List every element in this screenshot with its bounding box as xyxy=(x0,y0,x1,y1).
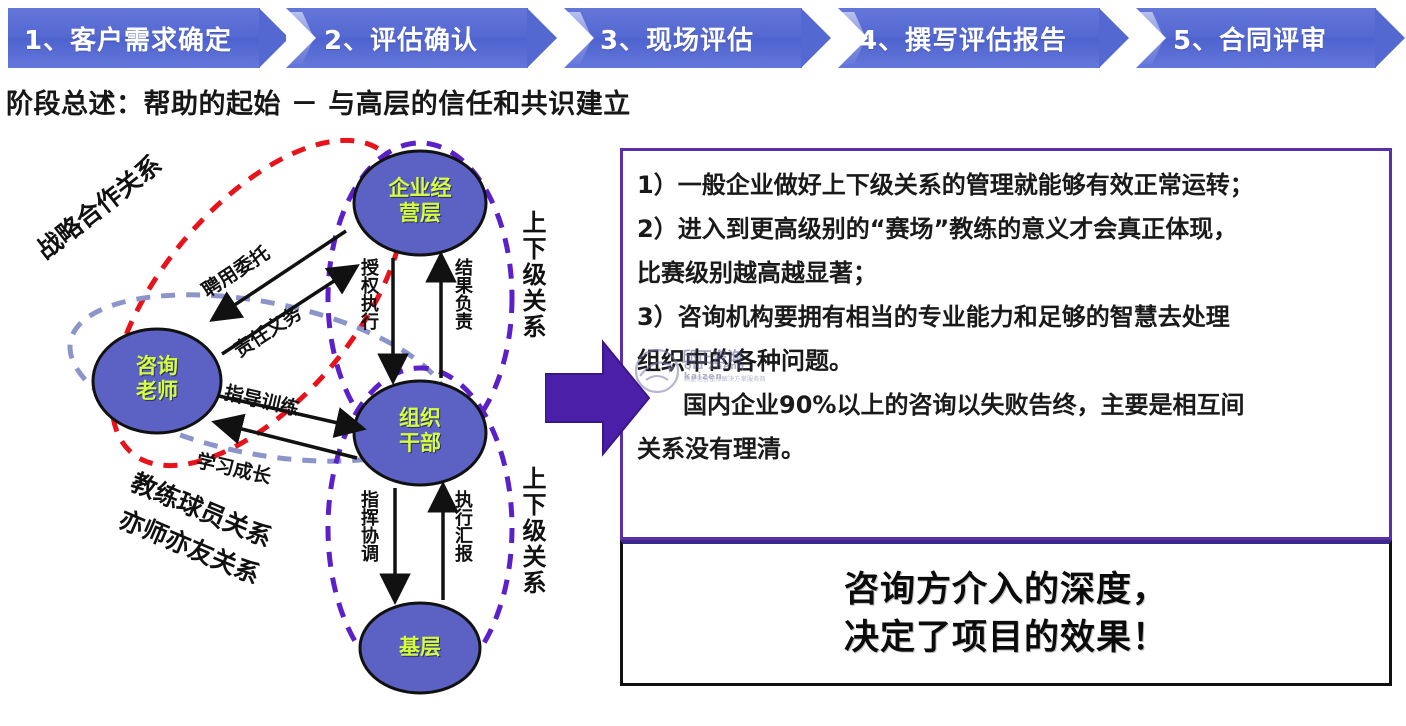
node-frontline xyxy=(360,603,480,693)
label-command-coordinate: 指挥协调 xyxy=(358,490,378,562)
process-step-5[interactable]: 5、合同评审 xyxy=(1136,8,1376,68)
chevron-sheen xyxy=(288,12,314,64)
label-hierarchy-lower: 上下级关系 xyxy=(518,466,545,596)
process-step-2-label: 2、评估确认 xyxy=(324,20,490,57)
insight-line-3: 比赛级别越高越显著； xyxy=(637,251,1377,295)
conclusion-panel: 咨询方介入的深度， 决定了项目的效果！ xyxy=(620,540,1392,686)
label-hierarchy-upper: 上下级关系 xyxy=(518,210,545,340)
flow-arrow-icon xyxy=(545,338,650,458)
process-step-1[interactable]: 1、客户需求确定 xyxy=(8,8,260,68)
node-consultant xyxy=(93,329,221,433)
process-step-3-label: 3、现场评估 xyxy=(600,20,766,57)
process-step-4[interactable]: 4、撰写评估报告 xyxy=(838,8,1100,68)
process-step-1-label: 1、客户需求确定 xyxy=(24,20,244,57)
process-step-3[interactable]: 3、现场评估 xyxy=(564,8,802,68)
chevron-sheen xyxy=(566,12,592,64)
insight-list: 1）一般企业做好上下级关系的管理就能够有效正常运转； 2）进入到更高级别的“赛场… xyxy=(623,151,1389,471)
chevron-sheen xyxy=(840,12,866,64)
insight-line-1: 1）一般企业做好上下级关系的管理就能够有效正常运转； xyxy=(637,163,1377,207)
conclusion-line-2: 决定了项目的效果！ xyxy=(844,614,1168,662)
insight-line-6: 国内企业90%以上的咨询以失败告终，主要是相互间 xyxy=(637,383,1377,427)
relationship-diagram: 企业经 营层 组织 干部 基层 咨询 老师 战略合作关系 聘用委托 责任义务 指… xyxy=(0,128,600,708)
label-authorize-execute: 授权执行 xyxy=(358,258,378,330)
insight-panel: 1）一般企业做好上下级关系的管理就能够有效正常运转； 2）进入到更高级别的“赛场… xyxy=(620,148,1392,540)
label-result-accountable: 结果负责 xyxy=(452,258,472,330)
node-cadre xyxy=(354,381,486,485)
stage-summary-title: 阶段总述：帮助的起始 － 与高层的信任和共识建立 xyxy=(6,82,631,121)
process-step-banner: 1、客户需求确定 2、评估确认 3、现场评估 4、撰写评估报告 5、合同评审 xyxy=(0,8,1406,68)
insight-line-7: 关系没有理清。 xyxy=(637,427,1377,471)
insight-line-5: 组织中的各种问题。 xyxy=(637,339,1377,383)
insight-line-4: 3）咨询机构要拥有相当的专业能力和足够的智慧去处理 xyxy=(637,295,1377,339)
conclusion-line-1: 咨询方介入的深度， xyxy=(844,566,1168,614)
insight-line-2: 2）进入到更高级别的“赛场”教练的意义才会真正体现， xyxy=(637,207,1377,251)
node-executive xyxy=(354,151,486,255)
process-step-4-label: 4、撰写评估报告 xyxy=(859,20,1079,57)
chevron-sheen xyxy=(1138,12,1164,64)
process-step-5-label: 5、合同评审 xyxy=(1173,20,1339,57)
label-execute-report: 执行汇报 xyxy=(452,490,472,562)
process-step-2[interactable]: 2、评估确认 xyxy=(286,8,528,68)
